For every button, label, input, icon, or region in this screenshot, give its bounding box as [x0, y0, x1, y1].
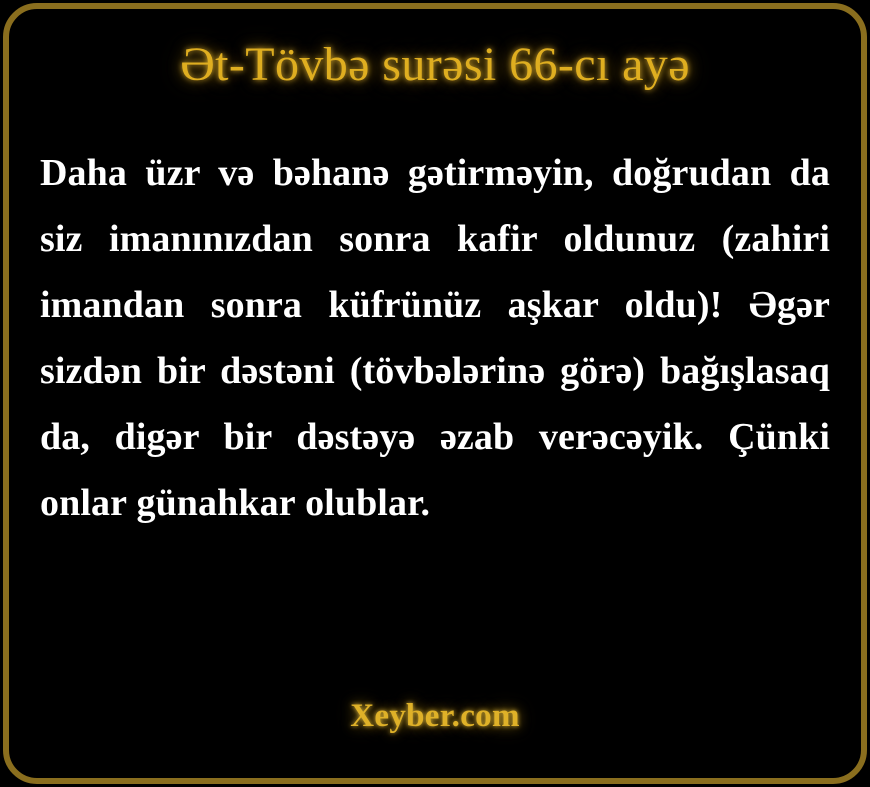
card-content: Ət-Tövbə surəsi 66-cı ayə Daha üzr və bə… [0, 0, 870, 787]
verse-body-text: Daha üzr və bəhanə gətirməyin, doğrudan … [40, 92, 830, 536]
page-title: Ət-Tövbə surəsi 66-cı ayə [40, 0, 830, 92]
content-spacer [40, 536, 830, 698]
site-watermark: Xeyber.com [40, 698, 830, 787]
verse-card: Ət-Tövbə surəsi 66-cı ayə Daha üzr və bə… [0, 0, 870, 787]
